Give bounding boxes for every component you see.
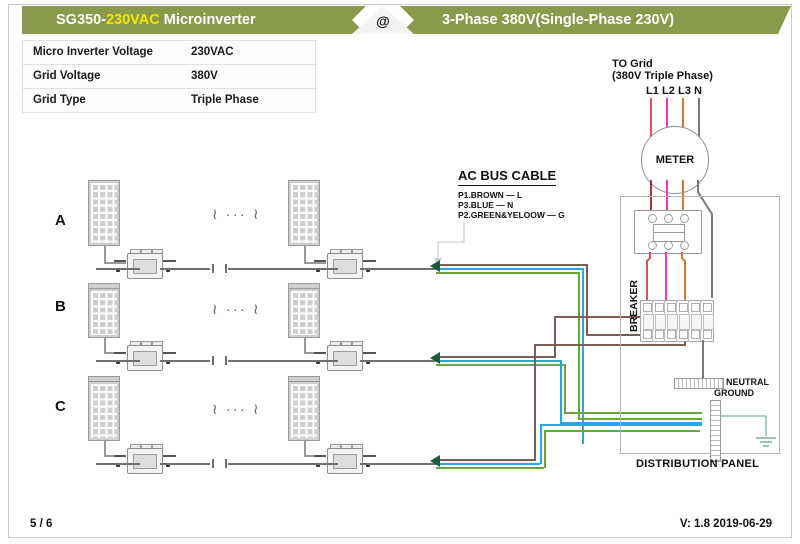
- page-number: 5 / 6: [30, 518, 52, 530]
- bus-c-ground: [436, 467, 544, 469]
- ac-break: [225, 264, 227, 273]
- mi-inner: [133, 351, 157, 366]
- bus-b-arrow: [428, 350, 442, 370]
- spec-value: 380V: [183, 65, 315, 88]
- bus-b-ground-v: [564, 364, 566, 412]
- ac-trunk: [160, 463, 210, 465]
- at-icon: @: [352, 6, 414, 34]
- mi-lead-right: [363, 455, 376, 457]
- phase-label-l2: L2: [662, 85, 675, 97]
- mi-lead-left: [314, 455, 326, 457]
- microinverter: [124, 443, 164, 473]
- to-grid-line2: (380V Triple Phase): [612, 70, 713, 82]
- panel-cells: [91, 291, 117, 335]
- mi-lead-left: [114, 455, 126, 457]
- microinverter: [124, 248, 164, 278]
- panel-cells: [291, 384, 317, 438]
- ground-label: GROUND: [714, 388, 754, 398]
- pole-terminal: [691, 303, 700, 312]
- spec-key: Micro Inverter Voltage: [23, 41, 183, 64]
- microinverter: [324, 340, 364, 370]
- ac-break: [212, 356, 214, 365]
- distribution-panel-label: DISTRIBUTION PANEL: [636, 458, 759, 470]
- switch-terminal: [680, 214, 689, 223]
- solar-panel: [288, 288, 320, 338]
- bus-c-line: [436, 459, 536, 461]
- bus-c-line-v: [534, 346, 536, 461]
- mi-lead-right: [163, 352, 176, 354]
- bus-b-neutral: [436, 360, 560, 362]
- pole-terminal: [679, 330, 688, 339]
- spec-key: Grid Voltage: [23, 65, 183, 88]
- to-grid-line1: TO Grid: [612, 58, 653, 70]
- switch-terminal: [648, 241, 657, 250]
- solar-panel: [88, 288, 120, 338]
- spec-key: Grid Type: [23, 89, 183, 112]
- bus-c-neutral-v: [540, 424, 542, 464]
- earth-ground-symbol: [716, 408, 780, 452]
- mi-inner: [333, 351, 357, 366]
- pole-terminal: [667, 303, 676, 312]
- ac-trunk: [160, 360, 210, 362]
- pole-terminal: [643, 330, 652, 339]
- panel-lead: [104, 262, 126, 264]
- mi-lead-right: [163, 455, 176, 457]
- solar-panel: [288, 381, 320, 441]
- mi-lead-right: [163, 260, 176, 262]
- solar-panel: [288, 180, 320, 246]
- spec-table: Micro Inverter Voltage 230VAC Grid Volta…: [22, 40, 316, 113]
- ac-break: [212, 264, 214, 273]
- breaker-pole: [689, 301, 701, 341]
- neutral-feed: [702, 340, 704, 378]
- panel-lead: [304, 262, 326, 264]
- breaker-pole: [665, 301, 677, 341]
- bus-c-ground-v: [544, 430, 546, 468]
- mi-inner: [333, 454, 357, 469]
- mi-inner: [133, 259, 157, 274]
- mi-lead-left: [314, 260, 326, 262]
- breaker-pole: [653, 301, 665, 341]
- mi-inner: [133, 454, 157, 469]
- pole-terminal: [703, 303, 712, 312]
- ac-break: [212, 459, 214, 468]
- pole-body: [703, 314, 714, 330]
- mi-lead-right: [363, 260, 376, 262]
- continuation-marker: ≀ ··· ≀: [212, 300, 261, 318]
- bus-a-line: [436, 264, 588, 266]
- ac-bus-legend-ground: P2.GREEN&YELOOW — G: [458, 210, 565, 220]
- panel-cells: [91, 384, 117, 438]
- breaker-block: [640, 300, 714, 342]
- bus-a-ground-v: [578, 272, 580, 420]
- string-label-c: C: [55, 398, 66, 415]
- pole-terminal: [679, 303, 688, 312]
- bus-b-line-v: [554, 318, 556, 358]
- switch-to-breaker-wires: [640, 252, 700, 302]
- spec-value: 230VAC: [183, 41, 315, 64]
- pole-terminal: [667, 330, 676, 339]
- panel-cells: [91, 183, 117, 243]
- mi-lead-right: [363, 352, 376, 354]
- microinverter: [124, 340, 164, 370]
- pole-body: [691, 314, 702, 330]
- mi-lead-left: [114, 260, 126, 262]
- ac-trunk: [228, 360, 338, 362]
- title-prefix: SG350-: [56, 12, 106, 28]
- phase-label-l3: L3: [678, 85, 691, 97]
- ac-trunk: [228, 463, 338, 465]
- pole-terminal: [703, 330, 712, 339]
- pole-terminal: [643, 303, 652, 312]
- table-row: Micro Inverter Voltage 230VAC: [23, 41, 315, 65]
- bus-b-line: [436, 356, 556, 358]
- pole-terminal: [655, 330, 664, 339]
- microinverter: [324, 443, 364, 473]
- ac-trunk: [360, 360, 436, 362]
- diagram-page: @ SG350-230VAC Microinverter 3-Phase 380…: [0, 0, 800, 544]
- bus-b-ground: [436, 364, 564, 366]
- panel-cells: [291, 291, 317, 335]
- ac-bus-legend-neutral: P3.BLUE — N: [458, 200, 513, 210]
- main-switch: [634, 210, 702, 254]
- breaker-label: BREAKER: [628, 280, 640, 332]
- mi-inner: [333, 259, 357, 274]
- header-subtitle: 3-Phase 380V(Single-Phase 230V): [442, 6, 674, 34]
- phase-label-n: N: [694, 85, 702, 97]
- pole-body: [643, 314, 654, 330]
- ac-trunk: [360, 463, 436, 465]
- mi-lead-left: [114, 352, 126, 354]
- solar-panel: [88, 180, 120, 246]
- switch-terminal: [664, 214, 673, 223]
- spec-value: Triple Phase: [183, 89, 315, 112]
- ac-trunk: [96, 463, 140, 465]
- solar-panel: [88, 381, 120, 441]
- switch-terminal: [648, 214, 657, 223]
- title-highlight: 230VAC: [106, 12, 160, 28]
- mi-lead-left: [314, 352, 326, 354]
- breaker-pole: [677, 301, 689, 341]
- breaker-pole: [641, 301, 653, 341]
- switch-body: [653, 224, 685, 242]
- bus-a-line-v: [586, 264, 588, 336]
- continuation-marker: ≀ ··· ≀: [212, 205, 261, 223]
- panel-cells: [291, 183, 317, 243]
- version-date: V: 1.8 2019-06-29: [680, 518, 772, 530]
- bus-c-arrow: [428, 453, 442, 473]
- ac-trunk: [96, 268, 140, 270]
- bus-a-neutral: [436, 268, 584, 270]
- bus-a-arrow: [428, 258, 442, 278]
- pole-body: [679, 314, 690, 330]
- ac-trunk: [160, 268, 210, 270]
- ac-trunk: [96, 360, 140, 362]
- string-label-a: A: [55, 212, 66, 229]
- bus-b-neutral-v: [560, 360, 562, 422]
- string-label-b: B: [55, 298, 66, 315]
- phase-label-l1: L1: [646, 85, 659, 97]
- switch-terminal: [664, 241, 673, 250]
- ac-break: [225, 459, 227, 468]
- breaker-pole: [701, 301, 713, 341]
- bus-a-ground: [436, 272, 580, 274]
- continuation-marker: ≀ ··· ≀: [212, 400, 261, 418]
- pole-terminal: [691, 330, 700, 339]
- pole-body: [655, 314, 666, 330]
- ac-trunk: [360, 268, 436, 270]
- switch-terminal: [680, 241, 689, 250]
- ac-bus-legend-line: P1.BROWN — L: [458, 190, 522, 200]
- bus-c-neutral: [436, 463, 540, 465]
- table-row: Grid Voltage 380V: [23, 65, 315, 89]
- neutral-label: NEUTRAL: [726, 377, 769, 387]
- pole-body: [667, 314, 678, 330]
- pole-terminal: [655, 303, 664, 312]
- header-banner: @ SG350-230VAC Microinverter 3-Phase 380…: [22, 6, 778, 34]
- table-row: Grid Type Triple Phase: [23, 89, 315, 113]
- title-suffix: Microinverter: [160, 12, 256, 28]
- ac-bus-title: AC BUS CABLE: [458, 168, 556, 186]
- at-badge: @: [352, 6, 414, 34]
- ac-trunk: [228, 268, 338, 270]
- header-title: SG350-230VAC Microinverter: [56, 6, 256, 34]
- ac-break: [225, 356, 227, 365]
- microinverter: [324, 248, 364, 278]
